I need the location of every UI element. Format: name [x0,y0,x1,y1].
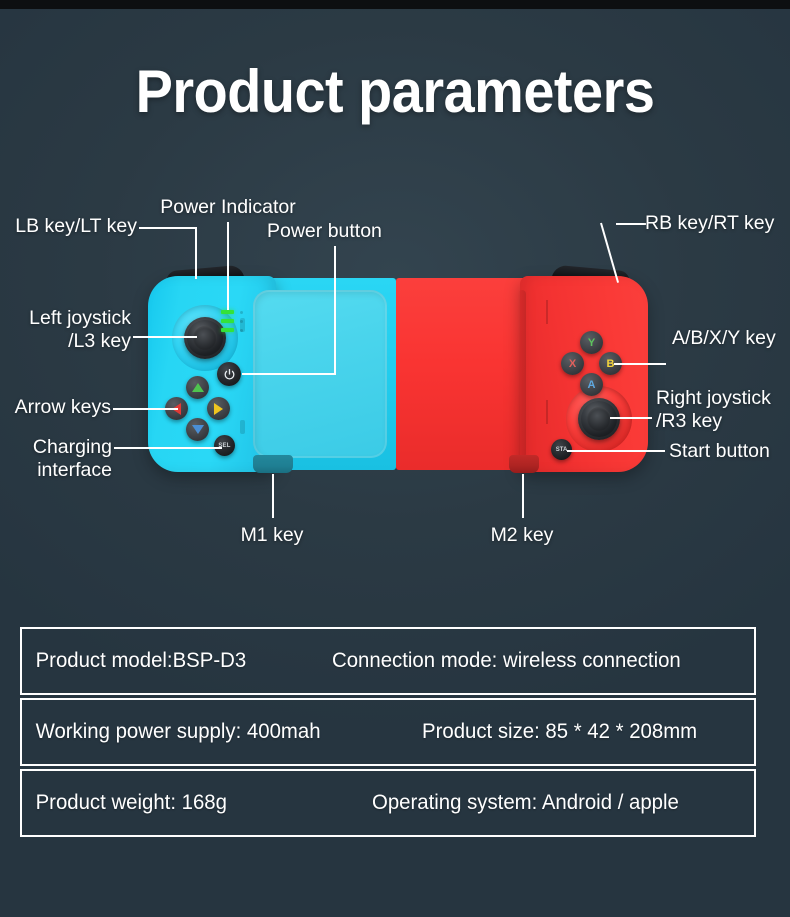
leader-power-indicator [227,222,229,310]
power-indicator-led-2 [221,319,234,323]
triangle-up-icon [192,383,204,392]
seam-upper-right [546,300,548,324]
spec-row: Product weight: 168g Operating system: A… [20,769,756,837]
spec-row: Product model:BSP-D3 Connection mode: wi… [20,627,756,695]
callout-abxy-key: A/B/X/Y key [672,327,776,350]
top-black-bar [0,0,790,9]
power-indicator-led-3 [221,328,234,332]
callout-m2-key: M2 key [452,524,592,547]
leader-right-joystick [610,417,652,419]
callout-charging-interface: Charging interface [0,436,112,482]
triangle-right-icon [214,403,223,415]
leader-charging [114,447,222,449]
power-icon [223,368,236,381]
spec-product-size: Product size: 85 * 42 * 208mm [422,720,697,744]
y-button[interactable]: Y [580,331,603,354]
leader-power-button-v [334,246,336,374]
m1-key-button[interactable] [253,455,293,473]
callout-m1-key: M1 key [202,524,342,547]
leader-lb-lt-v [195,227,197,279]
page-title: Product parameters [28,57,763,126]
leader-arrow-keys [113,408,178,410]
x-button[interactable]: X [561,352,584,375]
triangle-down-icon [192,425,204,434]
callout-start-button: Start button [669,440,770,463]
a-button[interactable]: A [580,373,603,396]
callout-rb-rt-key: RB key/RT key [645,212,774,235]
bridge-notch-bottom [240,420,245,434]
leader-lb-lt-h [139,227,197,229]
spec-row: Working power supply: 400mah Product siz… [20,698,756,766]
spec-product-weight: Product weight: 168g [22,791,362,815]
callout-left-joystick: Left joystick /L3 key [0,307,131,353]
dpad-down-button[interactable] [186,418,209,441]
callout-power-indicator: Power Indicator [148,196,308,219]
callout-power-button: Power button [267,220,382,243]
callout-right-joystick: Right joystick /R3 key [656,387,771,433]
vent-dot-2 [240,320,243,323]
spec-operating-system: Operating system: Android / apple [372,791,679,815]
leader-abxy [614,363,666,365]
m2-key-button[interactable] [509,455,539,473]
callout-arrow-keys: Arrow keys [0,396,111,419]
leader-m2 [522,474,524,518]
spec-power-supply: Working power supply: 400mah [22,720,410,744]
left-joystick[interactable] [184,317,226,359]
vent-dot-1 [240,311,243,314]
leader-m1 [272,474,274,518]
vent-dot-3 [240,329,243,332]
callout-lb-lt-key: LB key/LT key [0,215,137,238]
spec-product-model: Product model:BSP-D3 [22,649,323,673]
leader-start-button [567,450,665,452]
right-joystick[interactable] [578,398,620,440]
dpad-up-button[interactable] [186,376,209,399]
spec-table: Product model:BSP-D3 Connection mode: wi… [20,627,756,837]
spec-connection-mode: Connection mode: wireless connection [332,649,681,673]
select-button[interactable]: SEL [214,435,235,456]
dpad-right-button[interactable] [207,397,230,420]
seam-lower-right [546,400,548,424]
power-indicator-led-1 [221,310,234,314]
leader-power-button-h [242,373,336,375]
power-button[interactable] [217,362,241,386]
leader-left-joystick [133,336,197,338]
leader-rb-rt-h [616,223,646,225]
